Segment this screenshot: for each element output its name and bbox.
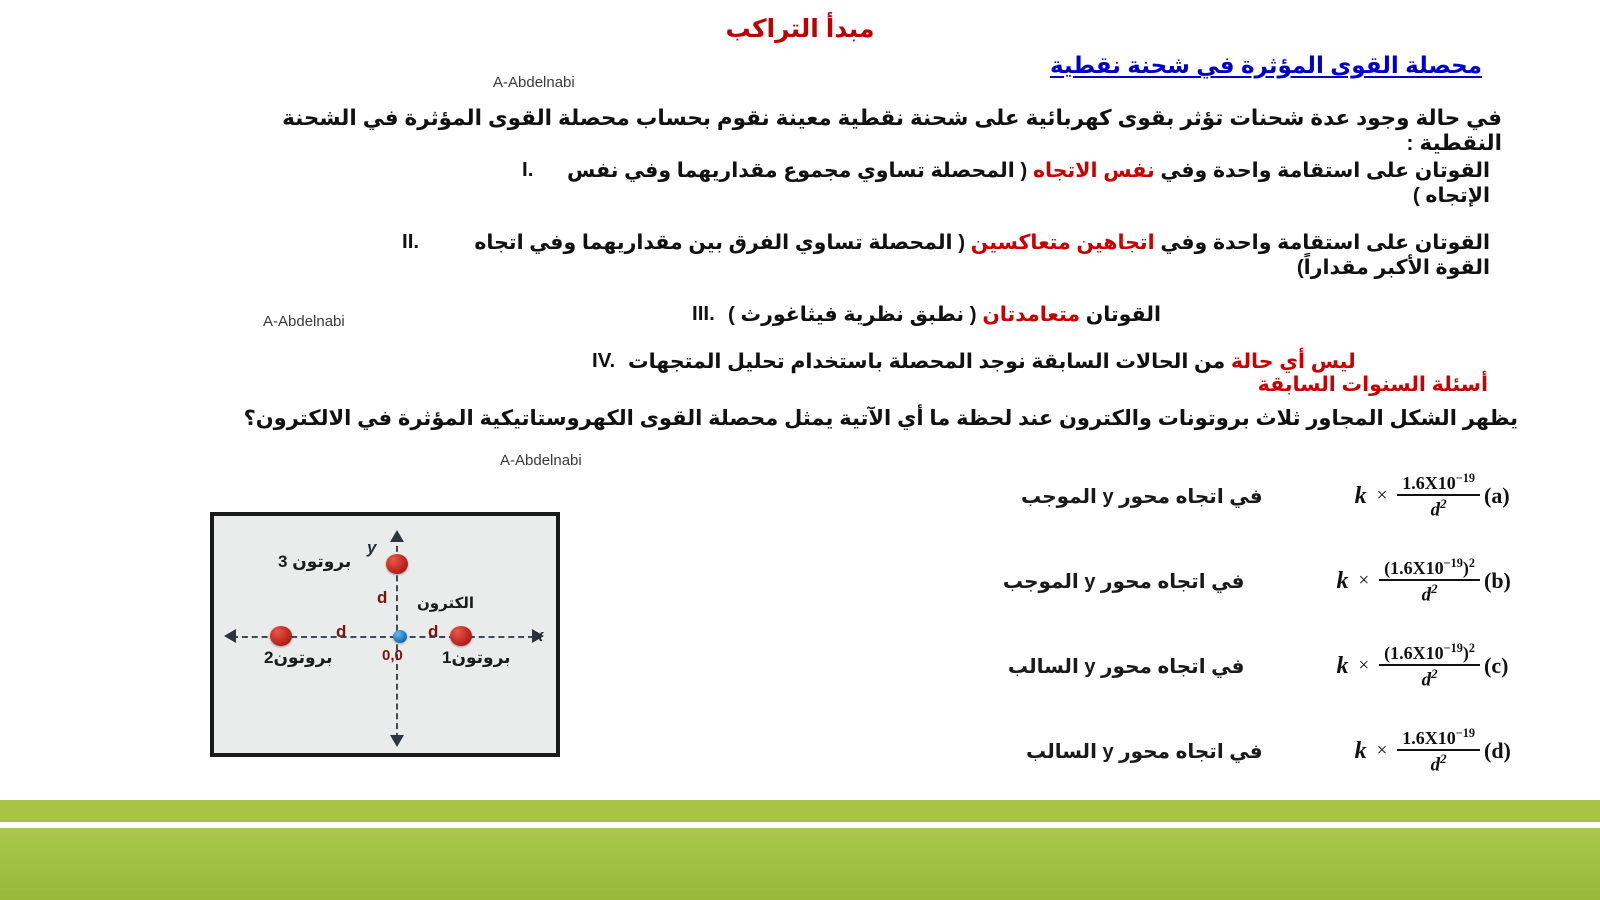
list-item-marker: I. (522, 158, 552, 182)
list-item-body: القوتان على استقامة واحدة وفي نفس الاتجا… (558, 158, 1490, 208)
list-item-text-pre: القوتان على استقامة واحدة وفي (1155, 159, 1490, 182)
multiply-icon: × (1358, 570, 1369, 592)
bottom-band-thin (0, 800, 1600, 822)
answer-letter: (c) (1484, 653, 1518, 679)
answer-option-b[interactable]: (b) k × (1.6X10−19)2 d2 في اتجاه محور y … (818, 551, 1518, 611)
bottom-spacer (0, 786, 1600, 800)
slide-canvas: مبدأ التراكب محصلة القوى المؤثرة في شحنة… (0, 0, 1600, 900)
denominator-exponent: 2 (1431, 666, 1437, 681)
numerator-exponent: −19 (1456, 471, 1475, 485)
figure-label-y-axis: y (367, 538, 376, 558)
previous-years-heading: أسئلة السنوات السابقة (1258, 372, 1488, 397)
multiply-icon: × (1377, 485, 1388, 507)
denominator-base: d (1431, 754, 1441, 775)
figure-label-proton-3: بروتون 3 (278, 552, 351, 572)
numerator-square: 2 (1469, 556, 1475, 570)
answer-formula: k × (1.6X10−19)2 d2 (1336, 642, 1480, 690)
list-item: IV. ليس أي حالة من الحالات السابقة نوجد … (260, 349, 1490, 374)
fraction-numerator: 1.6X10−19 (1397, 472, 1480, 494)
proton-2-dot-icon (270, 626, 292, 646)
proton-1-dot-icon (450, 626, 472, 646)
list-item: I. القوتان على استقامة واحدة وفي نفس الا… (260, 158, 1490, 208)
multiply-icon: × (1377, 740, 1388, 762)
fraction: (1.6X10−19)2 d2 (1379, 557, 1480, 605)
numerator-exponent: −19 (1456, 726, 1475, 740)
list-item-highlight: ليس أي حالة (1231, 350, 1356, 373)
numerator-exponent: −19 (1444, 556, 1463, 570)
figure-label-electron: الكترون (417, 594, 474, 612)
figure-label-x-axis: x (534, 626, 543, 646)
answer-letter: (b) (1484, 568, 1518, 594)
answer-description: في اتجاه محور y السالب (1026, 739, 1263, 764)
denominator-exponent: 2 (1440, 496, 1446, 511)
denominator-base: d (1422, 584, 1432, 605)
y-axis-negative-arrow-icon (390, 735, 404, 747)
figure-label-distance-right: d (428, 622, 438, 642)
answer-letter: (a) (1484, 483, 1518, 509)
fraction-denominator: d2 (1422, 581, 1438, 605)
list-item-text-pre: القوتان (1080, 303, 1161, 326)
fraction-numerator: (1.6X10−19)2 (1379, 642, 1480, 664)
multiply-icon: × (1358, 655, 1369, 677)
answer-letter: (d) (1484, 738, 1518, 764)
answer-formula: k × 1.6X10−19 d2 (1355, 472, 1480, 520)
question-text: يظهر الشكل المجاور ثلاث بروتونات والكترو… (120, 406, 1518, 431)
physics-figure: y x بروتون 3 بروتون2 بروتون1 الكترون 0,0… (210, 512, 560, 757)
list-item-marker: II. (402, 230, 432, 254)
electron-dot-icon (393, 630, 407, 643)
answer-options: (a) k × 1.6X10−19 d2 في اتجاه محور y الم… (818, 466, 1518, 806)
list-item-highlight: نفس الاتجاه (1033, 159, 1155, 182)
denominator-exponent: 2 (1440, 751, 1446, 766)
numerator-base: 1.6X10 (1390, 643, 1444, 663)
intro-paragraph: في حالة وجود عدة شحنات تؤثر بقوى كهربائي… (270, 106, 1502, 156)
answer-description: في اتجاه محور y الموجب (1003, 569, 1245, 594)
fraction-denominator: d2 (1431, 751, 1447, 775)
rules-list: I. القوتان على استقامة واحدة وفي نفس الا… (260, 158, 1490, 396)
figure-label-proton-1: بروتون1 (442, 648, 511, 668)
coulomb-constant-symbol: k (1336, 568, 1348, 595)
figure-label-origin: 0,0 (382, 647, 403, 664)
figure-label-distance-left: d (336, 622, 346, 642)
fraction: 1.6X10−19 d2 (1397, 472, 1480, 520)
list-item-marker: IV. (592, 349, 622, 373)
fraction: (1.6X10−19)2 d2 (1379, 642, 1480, 690)
numerator-square: 2 (1469, 641, 1475, 655)
numerator-base: 1.6X10 (1402, 473, 1456, 493)
fraction-denominator: d2 (1422, 666, 1438, 690)
numerator-base: 1.6X10 (1390, 558, 1444, 578)
proton-3-dot-icon (386, 554, 408, 574)
denominator-exponent: 2 (1431, 581, 1437, 596)
fraction-denominator: d2 (1431, 496, 1447, 520)
coulomb-constant-symbol: k (1355, 483, 1367, 510)
numerator-exponent: −19 (1444, 641, 1463, 655)
answer-description: في اتجاه محور y السالب (1008, 654, 1245, 679)
fraction-numerator: (1.6X10−19)2 (1379, 557, 1480, 579)
y-axis-positive-arrow-icon (390, 530, 404, 542)
coulomb-constant-symbol: k (1336, 653, 1348, 680)
numerator-base: 1.6X10 (1402, 728, 1456, 748)
fraction: 1.6X10−19 d2 (1397, 727, 1480, 775)
list-item: II. القوتان على استقامة واحدة وفي اتجاهي… (260, 230, 1490, 280)
watermark-bottom: A-Abdelnabi (500, 452, 582, 469)
list-item-body: القوتان على استقامة واحدة وفي اتجاهين مت… (438, 230, 1490, 280)
list-item-highlight: متعامدتان (982, 303, 1080, 326)
list-item-text-post: من الحالات السابقة نوجد المحصلة باستخدام… (628, 350, 1231, 373)
list-item-body: ليس أي حالة من الحالات السابقة نوجد المح… (628, 349, 1356, 374)
list-item-text-post: ( نطبق نظرية فيثاغورث ) (728, 303, 982, 326)
answer-description: في اتجاه محور y الموجب (1021, 484, 1263, 509)
list-item-highlight: اتجاهين متعاكسين (971, 231, 1155, 254)
section-subtitle: محصلة القوى المؤثرة في شحنة نقطية (1050, 52, 1482, 79)
answer-option-d[interactable]: (d) k × 1.6X10−19 d2 في اتجاه محور y الس… (818, 721, 1518, 781)
denominator-base: d (1431, 499, 1441, 520)
figure-label-proton-2: بروتون2 (264, 648, 333, 668)
answer-formula: k × (1.6X10−19)2 d2 (1336, 557, 1480, 605)
list-item-marker: III. (692, 302, 722, 326)
watermark-top: A-Abdelnabi (493, 74, 575, 91)
list-item-body: القوتان متعامدتان ( نطبق نظرية فيثاغورث … (728, 302, 1161, 327)
figure-inner: y x بروتون 3 بروتون2 بروتون1 الكترون 0,0… (214, 516, 556, 753)
fraction-numerator: 1.6X10−19 (1397, 727, 1480, 749)
figure-label-distance-up: d (377, 588, 387, 608)
answer-option-a[interactable]: (a) k × 1.6X10−19 d2 في اتجاه محور y الم… (818, 466, 1518, 526)
list-item-text-pre: القوتان على استقامة واحدة وفي (1155, 231, 1490, 254)
bottom-band-thick (0, 828, 1600, 900)
list-item: III. القوتان متعامدتان ( نطبق نظرية فيثا… (260, 302, 1490, 327)
x-axis-negative-arrow-icon (224, 629, 236, 643)
answer-option-c[interactable]: (c) k × (1.6X10−19)2 d2 في اتجاه محور y … (818, 636, 1518, 696)
answer-formula: k × 1.6X10−19 d2 (1355, 727, 1480, 775)
denominator-base: d (1422, 669, 1432, 690)
page-title: مبدأ التراكب (0, 14, 1600, 44)
coulomb-constant-symbol: k (1355, 738, 1367, 765)
